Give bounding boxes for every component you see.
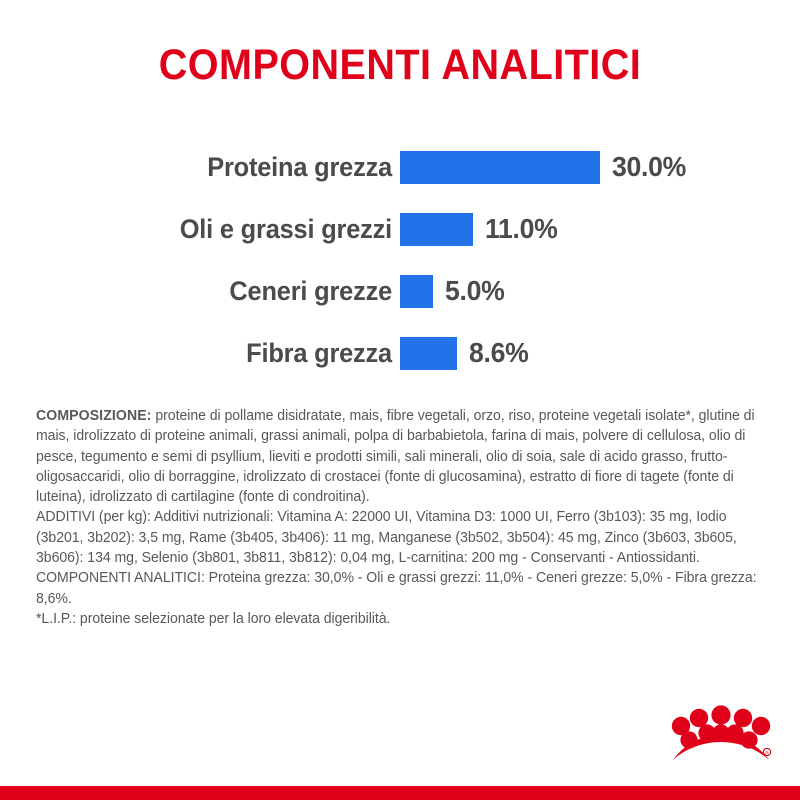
chart-row-oli-e-grassi-grezzi: Oli e grassi grezzi 11.0% (0, 200, 800, 258)
chart-value-proteina-grezza: 30.0% (612, 153, 686, 181)
chart-bar-fibra-grezza (400, 337, 457, 370)
chart-row-fibra-grezza: Fibra grezza 8.6% (0, 324, 800, 382)
composition-text-block: COMPOSIZIONE: proteine di pollame disidr… (36, 406, 757, 629)
chart-value-oli-e-grassi-grezzi: 11.0% (485, 215, 558, 243)
chart-bar-group-oli-e-grassi-grezzi: 11.0% (400, 213, 561, 246)
lip-footnote: *L.I.P.: proteine selezionate per la lor… (36, 609, 757, 629)
chart-bar-oli-e-grassi-grezzi (400, 213, 473, 246)
chart-label-oli-e-grassi-grezzi: Oli e grassi grezzi (24, 216, 392, 243)
chart-bar-group-ceneri-grezze: 5.0% (400, 275, 508, 308)
page-title: COMPONENTI ANALITICI (32, 44, 768, 87)
composition-paragraph: COMPOSIZIONE: proteine di pollame disidr… (36, 406, 757, 507)
chart-bar-group-fibra-grezza: 8.6% (400, 337, 532, 370)
chart-row-proteina-grezza: Proteina grezza 30.0% (0, 138, 800, 196)
chart-label-proteina-grezza: Proteina grezza (24, 154, 392, 181)
royal-canin-crown-logo: R (668, 702, 774, 764)
footer-accent-bar (0, 786, 800, 800)
chart-value-fibra-grezza: 8.6% (469, 339, 528, 367)
analytical-components-paragraph: COMPONENTI ANALITICI: Proteina grezza: 3… (36, 568, 757, 609)
chart-bar-group-proteina-grezza: 30.0% (400, 151, 690, 184)
chart-row-ceneri-grezze: Ceneri grezze 5.0% (0, 262, 800, 320)
chart-label-ceneri-grezze: Ceneri grezze (24, 278, 392, 305)
chart-label-fibra-grezza: Fibra grezza (24, 340, 392, 367)
chart-bar-ceneri-grezze (400, 275, 433, 308)
product-info-panel: COMPONENTI ANALITICI Proteina grezza 30.… (0, 0, 800, 800)
chart-value-ceneri-grezze: 5.0% (445, 277, 504, 305)
additives-paragraph: ADDITIVI (per kg): Additivi nutrizionali… (36, 507, 757, 568)
composition-heading: COMPOSIZIONE: (36, 408, 152, 424)
analytical-components-chart: Proteina grezza 30.0% Oli e grassi grezz… (0, 138, 800, 386)
chart-bar-proteina-grezza (400, 151, 600, 184)
